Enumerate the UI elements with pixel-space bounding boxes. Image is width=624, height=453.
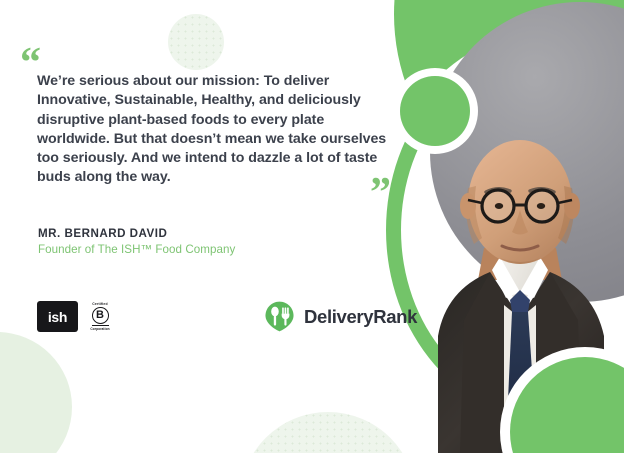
bcorp-top-label: Certified <box>92 302 108 306</box>
bcorp-bottom-label: Corporation <box>90 327 109 331</box>
deliveryrank-wordmark: DeliveryRank <box>304 306 417 328</box>
decorative-green-dot <box>400 76 470 146</box>
decorative-dotted-circle-top <box>168 14 224 70</box>
spoon-fork-pin-icon <box>263 300 296 333</box>
b-corp-certified-logo: Certified B Corporation <box>85 299 115 334</box>
portrait-artwork <box>368 0 624 453</box>
quote-text: We’re serious about our mission: To deli… <box>37 72 392 188</box>
author-role: Founder of The ISH™ Food Company <box>38 243 235 256</box>
decorative-pale-circle-bottom-left <box>0 332 72 453</box>
quote-close-mark: ” <box>370 172 391 214</box>
bcorp-divider <box>92 325 109 326</box>
testimonial-card: “ We’re serious about our mission: To de… <box>0 0 624 453</box>
author-name: MR. BERNARD DAVID <box>38 227 167 240</box>
bcorp-b-mark: B <box>92 307 109 324</box>
ish-wordmark: ish <box>48 309 67 325</box>
ish-logo: ish <box>37 301 78 332</box>
deliveryrank-logo: DeliveryRank <box>263 300 417 333</box>
